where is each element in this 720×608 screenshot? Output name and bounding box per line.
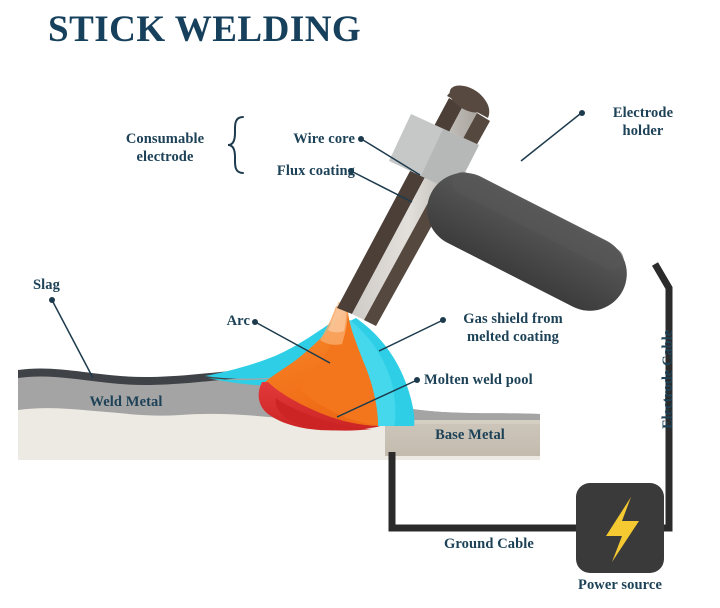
label-electrode-holder: Electrode holder	[588, 105, 698, 140]
leader-dot-slag	[49, 297, 55, 303]
leader-gas-shield	[379, 321, 441, 351]
label-wire-core: Wire core	[255, 131, 355, 149]
leader-dot-wire-core	[358, 136, 364, 142]
label-consumable-electrode: Consumable electrode	[110, 131, 220, 166]
page-title: STICK WELDING	[48, 8, 361, 51]
leader-dot-gas-shield	[440, 317, 446, 323]
electrode-holder-group	[414, 160, 639, 324]
leader-slag	[53, 302, 93, 378]
label-arc: Arc	[190, 313, 250, 331]
power-source-group[interactable]	[576, 483, 664, 573]
label-weld-metal: Weld Metal	[66, 394, 186, 412]
label-ground-cable: Ground Cable	[424, 536, 554, 554]
leader-dot-electrode-holder	[579, 110, 585, 116]
leader-dot-arc	[252, 319, 258, 325]
label-power-source: Power source	[555, 577, 685, 595]
label-electrode-cable: Electrode Cable	[660, 330, 677, 429]
label-molten-weld-pool: Molten weld pool	[424, 372, 584, 390]
diagram-canvas: STICK WELDING Consumable electrode Wire …	[0, 0, 720, 608]
label-gas-shield: Gas shield from melted coating	[448, 311, 578, 346]
stick-welding-illustration	[0, 0, 720, 608]
leader-dot-molten-pool	[414, 377, 420, 383]
ground-cable	[392, 452, 578, 528]
leader-electrode-holder	[521, 114, 580, 161]
holder-body	[414, 160, 639, 324]
label-base-metal: Base Metal	[415, 427, 525, 445]
label-flux-coating: Flux coating	[240, 163, 355, 181]
label-slag: Slag	[33, 277, 103, 295]
